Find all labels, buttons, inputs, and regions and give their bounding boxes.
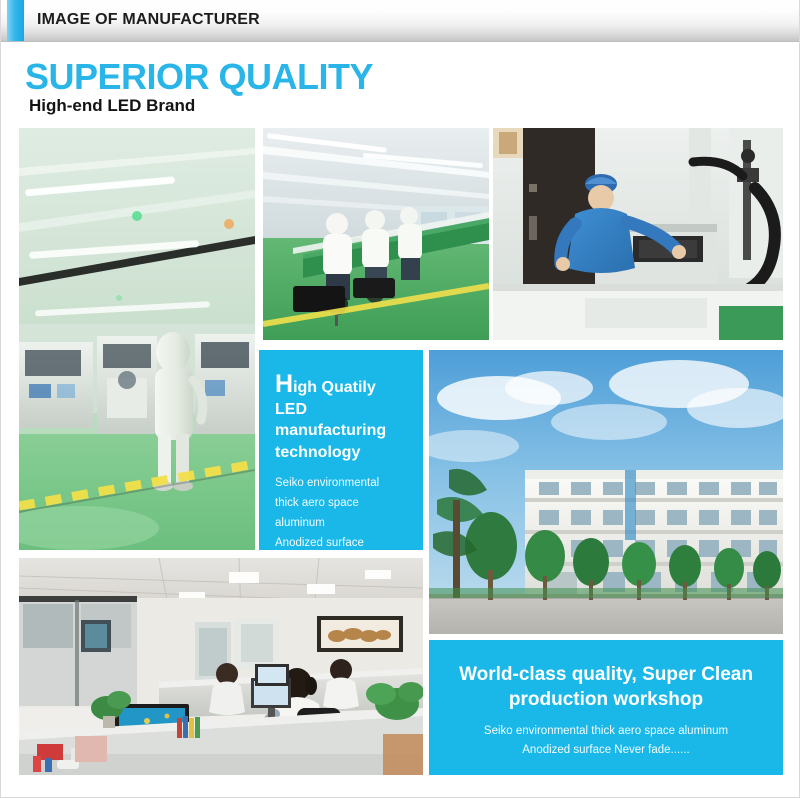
feature-caption-dropcap: H: [275, 370, 293, 398]
page-title: SUPERIOR QUALITY: [25, 59, 373, 95]
photo-coating-machine-image: [493, 128, 783, 340]
photo-factory-building: [429, 350, 783, 634]
photo-cleanroom-worker-image: [19, 128, 255, 550]
photo-assembly-line: [263, 128, 489, 340]
photo-coating-machine: [493, 128, 783, 340]
photo-office-interior: [19, 558, 423, 775]
page-subtitle: High-end LED Brand: [29, 97, 195, 114]
feature-caption-line: thick aero space aluminum: [275, 494, 409, 534]
banner-caption-title: World-class quality, Super Clean product…: [447, 662, 765, 712]
banner-caption-body: Seiko environmental thick aero space alu…: [447, 722, 765, 760]
photo-office-interior-image: [19, 558, 423, 775]
feature-caption-box: High Quatily LED manufacturing technolog…: [259, 350, 423, 550]
banner-caption-box: World-class quality, Super Clean product…: [429, 640, 783, 775]
banner-caption-line: Seiko environmental thick aero space alu…: [447, 722, 765, 741]
blue-tab-marker-icon: [7, 0, 24, 41]
manufacturer-showcase-page: IMAGE OF MANUFACTURER SUPERIOR QUALITY H…: [0, 0, 800, 798]
photo-cleanroom-worker: [19, 128, 255, 550]
banner-caption-line: Anodized surface Never fade......: [447, 741, 765, 760]
feature-caption-title: High Quatily LED manufacturing technolog…: [275, 372, 409, 463]
page-header-title: IMAGE OF MANUFACTURER: [37, 11, 260, 29]
photo-assembly-line-image: [263, 128, 489, 340]
feature-caption-body: Seiko environmental thick aero space alu…: [275, 474, 409, 550]
feature-caption-line: Anodized surface: [275, 534, 409, 550]
page-header-bar: IMAGE OF MANUFACTURER: [1, 0, 800, 42]
photo-factory-building-image: [429, 350, 783, 634]
feature-caption-line: Seiko environmental: [275, 474, 409, 494]
